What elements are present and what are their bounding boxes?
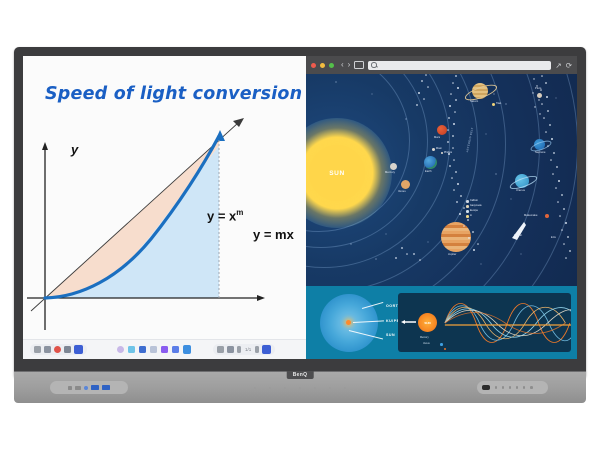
page-icon[interactable] bbox=[227, 346, 234, 353]
expand-icon[interactable]: ↗ bbox=[555, 61, 561, 70]
search-input[interactable] bbox=[368, 61, 551, 70]
port-usb-2-icon[interactable] bbox=[102, 385, 110, 390]
control-dot-2[interactable] bbox=[502, 386, 505, 389]
curve-equation-exponent: m bbox=[236, 208, 243, 217]
page-title: Speed of light conversion bbox=[45, 84, 302, 104]
tab-icon[interactable] bbox=[354, 61, 364, 70]
solar-system-illustration: SUN Mercury Venus Earth Moon Mars Jupite… bbox=[306, 74, 577, 286]
control-dot-4[interactable] bbox=[516, 386, 519, 389]
asteroid-belt bbox=[306, 74, 577, 286]
eraser-icon[interactable] bbox=[150, 346, 157, 353]
control-dot-3[interactable] bbox=[509, 386, 512, 389]
power-button-icon[interactable] bbox=[482, 385, 490, 390]
grille-dot bbox=[344, 387, 346, 389]
page-indicator: 1/1 bbox=[244, 347, 252, 352]
helix-label-mercury: Mercury bbox=[420, 336, 429, 339]
grille-dot bbox=[254, 387, 256, 389]
speaker-grille bbox=[254, 387, 346, 389]
oort-sun-core bbox=[346, 320, 351, 325]
highlighter-icon[interactable] bbox=[139, 346, 146, 353]
back-button[interactable]: ‹ bbox=[341, 61, 344, 69]
record-icon[interactable] bbox=[54, 346, 61, 353]
oort-sun-label: SUN bbox=[386, 333, 395, 337]
helix-sun: SUN bbox=[418, 313, 437, 332]
control-dot-5[interactable] bbox=[523, 386, 526, 389]
minimize-dot[interactable] bbox=[320, 63, 325, 68]
curve-equation-text: y = x bbox=[207, 208, 236, 223]
axis-label-y: y bbox=[71, 142, 78, 157]
shape-icon[interactable] bbox=[161, 346, 168, 353]
browser-window[interactable]: ‹ › ↗ ⟳ bbox=[306, 56, 577, 359]
display-bottom-bezel: BenQ bbox=[14, 371, 586, 403]
grille-dot bbox=[299, 387, 301, 389]
control-panel[interactable] bbox=[477, 381, 548, 394]
grille-dot bbox=[329, 387, 331, 389]
prev-page-icon[interactable] bbox=[237, 346, 241, 353]
toolbar-group-center[interactable] bbox=[117, 345, 192, 354]
x-axis-arrowhead bbox=[257, 295, 265, 301]
direction-arrow-icon bbox=[401, 320, 416, 324]
interactive-display-frame: Speed of light conversion bbox=[14, 47, 586, 379]
toolbar-group-left[interactable] bbox=[30, 344, 87, 356]
curve-equation-label: y = xm bbox=[207, 208, 243, 223]
capture-icon[interactable] bbox=[44, 346, 51, 353]
cloud-icon[interactable] bbox=[262, 345, 271, 354]
brand-logo: BenQ bbox=[287, 371, 314, 380]
toolbar-group-right[interactable]: 1/1 bbox=[213, 344, 275, 356]
helix-label-venus: Venus bbox=[423, 342, 430, 345]
close-dot[interactable] bbox=[311, 63, 316, 68]
port-hdmi-icon[interactable] bbox=[75, 386, 81, 390]
helix-mars-dot bbox=[444, 348, 446, 350]
control-dot-6[interactable] bbox=[530, 386, 533, 389]
curve-arrowhead bbox=[215, 130, 225, 141]
select-icon[interactable] bbox=[117, 346, 124, 353]
whiteboard-app[interactable]: Speed of light conversion bbox=[23, 56, 306, 359]
forward-button[interactable]: › bbox=[348, 61, 351, 69]
grille-dot bbox=[314, 387, 316, 389]
pen-icon[interactable] bbox=[128, 346, 135, 353]
port-audio-icon[interactable] bbox=[68, 386, 72, 390]
maximize-dot[interactable] bbox=[329, 63, 334, 68]
browser-chrome: ‹ › ↗ ⟳ bbox=[306, 56, 577, 74]
menu-icon[interactable] bbox=[34, 346, 41, 353]
port-jack-icon[interactable] bbox=[84, 386, 88, 390]
grille-dot bbox=[269, 387, 271, 389]
whiteboard-toolbar[interactable]: 1/1 bbox=[23, 339, 306, 359]
reload-icon[interactable]: ⟳ bbox=[566, 61, 572, 70]
undo-icon[interactable] bbox=[217, 346, 224, 353]
port-usb-1-icon[interactable] bbox=[91, 385, 99, 390]
share-icon[interactable] bbox=[64, 346, 71, 353]
y-axis-arrowhead bbox=[42, 142, 48, 150]
line-equation-label: y = mx bbox=[253, 227, 294, 242]
delete-icon[interactable] bbox=[255, 346, 259, 353]
search-icon bbox=[371, 62, 377, 68]
heliocentric-helix-diagram: SUN Mercury Venus bbox=[398, 293, 571, 352]
image-icon[interactable] bbox=[183, 345, 192, 354]
lasso-icon[interactable] bbox=[172, 346, 179, 353]
account-icon[interactable] bbox=[74, 345, 83, 354]
control-dot-1[interactable] bbox=[495, 386, 498, 389]
port-panel[interactable] bbox=[50, 381, 128, 394]
display-screen: Speed of light conversion bbox=[23, 56, 577, 359]
helix-earth-dot bbox=[440, 343, 443, 346]
helix-sun-label: SUN bbox=[424, 321, 430, 325]
oort-cloud-panel: OORT CLOUD KUIPER BELT SUN bbox=[306, 286, 577, 359]
grille-dot bbox=[284, 387, 286, 389]
